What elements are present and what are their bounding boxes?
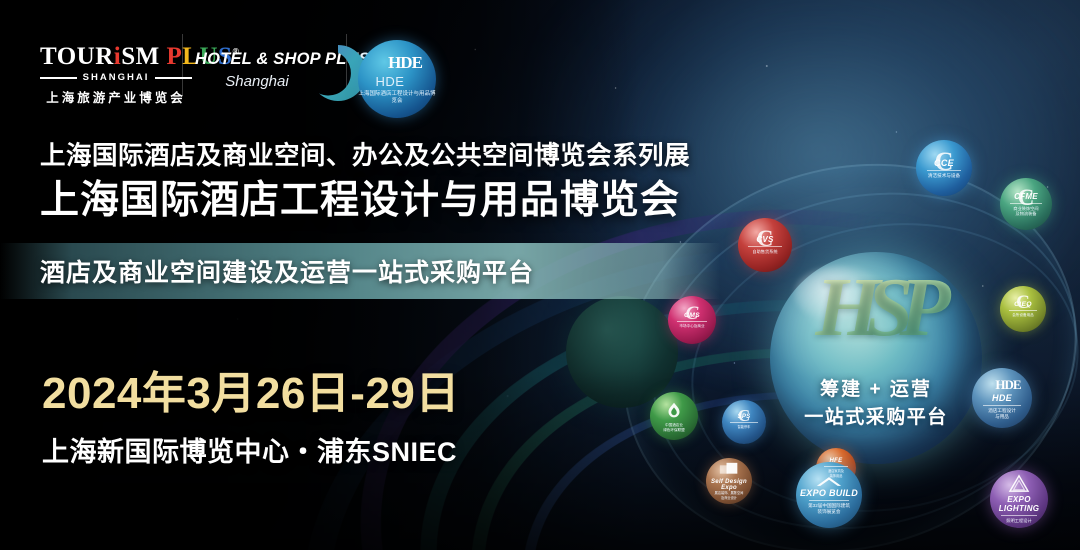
tagline-bar: 酒店及商业空间建设及运营一站式采购平台 bbox=[0, 243, 720, 299]
roof-icon bbox=[816, 476, 842, 487]
badge-name-cn: 中国酒店业绿色环保联盟 bbox=[663, 423, 685, 432]
event-info-block: 2024年3月26日-29日 上海新国际博览中心・浦东SNIEC bbox=[42, 372, 460, 469]
rule-left bbox=[40, 77, 77, 79]
badge-cce[interactable]: C CCE 清洁技术与设备 bbox=[916, 140, 972, 196]
badge-abbr: CIEQ bbox=[1014, 301, 1032, 308]
rule-right bbox=[155, 77, 192, 79]
hde-mark-icon: HDE bbox=[388, 53, 422, 73]
badge-self-design-expo[interactable]: Self Design Expo 展店装饰、展陈空间及商业设计 bbox=[706, 458, 752, 504]
central-sphere: HSP 筹建 + 运营 一站式采购平台 bbox=[770, 252, 982, 464]
badge-name-cn: 市场中心及商业 bbox=[679, 324, 704, 329]
badge-expo-lighting[interactable]: EXPO LIGHTING 照明工程设计 bbox=[990, 470, 1048, 528]
tp-part-tour: TOUR bbox=[40, 43, 114, 70]
tourism-plus-name-cn: 上海旅游产业博览会 bbox=[40, 87, 192, 106]
promotional-banner: TOURiSM PLUS® SHANGHAI 上海旅游产业博览会 bbox=[0, 0, 1080, 550]
badge-cvs[interactable]: C CVS 自助售货系统 bbox=[738, 218, 792, 272]
hde-mark-icon: HDE bbox=[995, 377, 1020, 393]
tp-part-sm: SM bbox=[121, 43, 160, 70]
badge-name-cn: 智能停车 bbox=[738, 425, 751, 429]
sphere-line-2: 一站式采购平台 bbox=[770, 402, 982, 429]
tp-part-p: P bbox=[166, 43, 182, 70]
badge-name-cn: 展店装饰、展陈空间及商业设计 bbox=[715, 491, 744, 499]
badge-rule bbox=[927, 170, 962, 171]
badge-rule bbox=[824, 466, 849, 467]
badge-name-cn: 会所设备用品 bbox=[1012, 313, 1034, 318]
badge-abbr: HDE bbox=[992, 393, 1012, 403]
badge-abbr: CFME bbox=[1014, 192, 1038, 201]
tourism-plus-wordmark: TOURiSM PLUS® bbox=[40, 44, 192, 69]
event-date: 2024年3月26日-29日 bbox=[42, 372, 460, 416]
badge-name-cn: 清洁技术与设备 bbox=[928, 173, 960, 179]
badge-green-alliance[interactable]: 中国酒店业绿色环保联盟 bbox=[650, 392, 698, 440]
badge-name-cn: 自助售货系统 bbox=[752, 249, 777, 254]
badge-cieq[interactable]: C CIEQ 会所设备用品 bbox=[1000, 286, 1046, 332]
hsp-monogram: HSP bbox=[770, 266, 982, 350]
badge-cms[interactable]: C CMS 市场中心及商业 bbox=[668, 296, 716, 344]
logo-hotel-shop-plus[interactable]: HOTEL & SHOP PLUS Shanghai bbox=[195, 50, 345, 90]
badge-sps[interactable]: C SPS 智能停车 bbox=[722, 400, 766, 444]
hde-name-cn: 上海国际酒店工程设计与用品博览会 bbox=[358, 91, 436, 106]
leaf-icon bbox=[663, 400, 685, 422]
badge-abbr: CCE bbox=[934, 158, 954, 168]
badge-cfme[interactable]: C CFME 商业装饰空间及物流装备 bbox=[1000, 178, 1052, 230]
hde-abbr: HDE bbox=[376, 74, 405, 89]
logo-bar: TOURiSM PLUS® SHANGHAI 上海旅游产业博览会 bbox=[0, 0, 1080, 128]
page-title: 上海国际酒店工程设计与用品博览会 bbox=[40, 179, 770, 223]
badge-rule bbox=[730, 422, 757, 423]
badge-abbr: Self Design Expo bbox=[706, 479, 752, 491]
badge-abbr: CVS bbox=[756, 235, 773, 244]
badge-abbr: EXPO LIGHTING bbox=[990, 495, 1048, 513]
logo-tourism-plus[interactable]: TOURiSM PLUS® SHANGHAI 上海旅游产业博览会 bbox=[40, 44, 192, 106]
tourism-plus-city: SHANGHAI bbox=[83, 72, 150, 83]
badge-rule bbox=[748, 246, 781, 247]
logo-hde-badge[interactable]: HDE HDE 上海国际酒店工程设计与用品博览会 bbox=[358, 40, 436, 118]
headline-block: 上海国际酒店及商业空间、办公及公共空间博览会系列展 上海国际酒店工程设计与用品博… bbox=[40, 142, 770, 223]
badge-rule bbox=[1009, 310, 1038, 311]
badge-rule bbox=[677, 321, 707, 322]
event-venue: 上海新国际博览中心・浦东SNIEC bbox=[42, 430, 460, 469]
tourism-plus-rule: SHANGHAI bbox=[40, 72, 192, 83]
badge-hde[interactable]: HDE HDE 酒店工程设计与用品 bbox=[972, 368, 1032, 428]
badge-name-cn: 第32届中国国际建筑装饰展览会 bbox=[808, 503, 850, 515]
badge-abbr: HFE bbox=[830, 458, 843, 464]
badge-rule bbox=[983, 405, 1020, 406]
badge-rule bbox=[1010, 203, 1042, 204]
tagline-text: 酒店及商业空间建设及运营一站式采购平台 bbox=[40, 253, 534, 289]
series-line: 上海国际酒店及商业空间、办公及公共空间博览会系列展 bbox=[40, 142, 770, 170]
sphere-line-1: 筹建 + 运营 bbox=[770, 374, 982, 401]
badge-abbr: SPS bbox=[738, 414, 751, 420]
badge-name-cn: 照明工程设计 bbox=[1006, 518, 1031, 523]
badge-rule bbox=[1001, 515, 1037, 516]
badge-abbr: EXPO BUILD bbox=[800, 488, 858, 498]
badge-name-cn: 商业装饰空间及物流装备 bbox=[1013, 206, 1038, 217]
badge-name-cn: 酒店工程设计与用品 bbox=[988, 408, 1016, 420]
badge-abbr: CMS bbox=[684, 312, 700, 319]
triangle-icon bbox=[1008, 474, 1030, 493]
badge-rule bbox=[809, 500, 850, 501]
squares-icon bbox=[719, 462, 739, 477]
